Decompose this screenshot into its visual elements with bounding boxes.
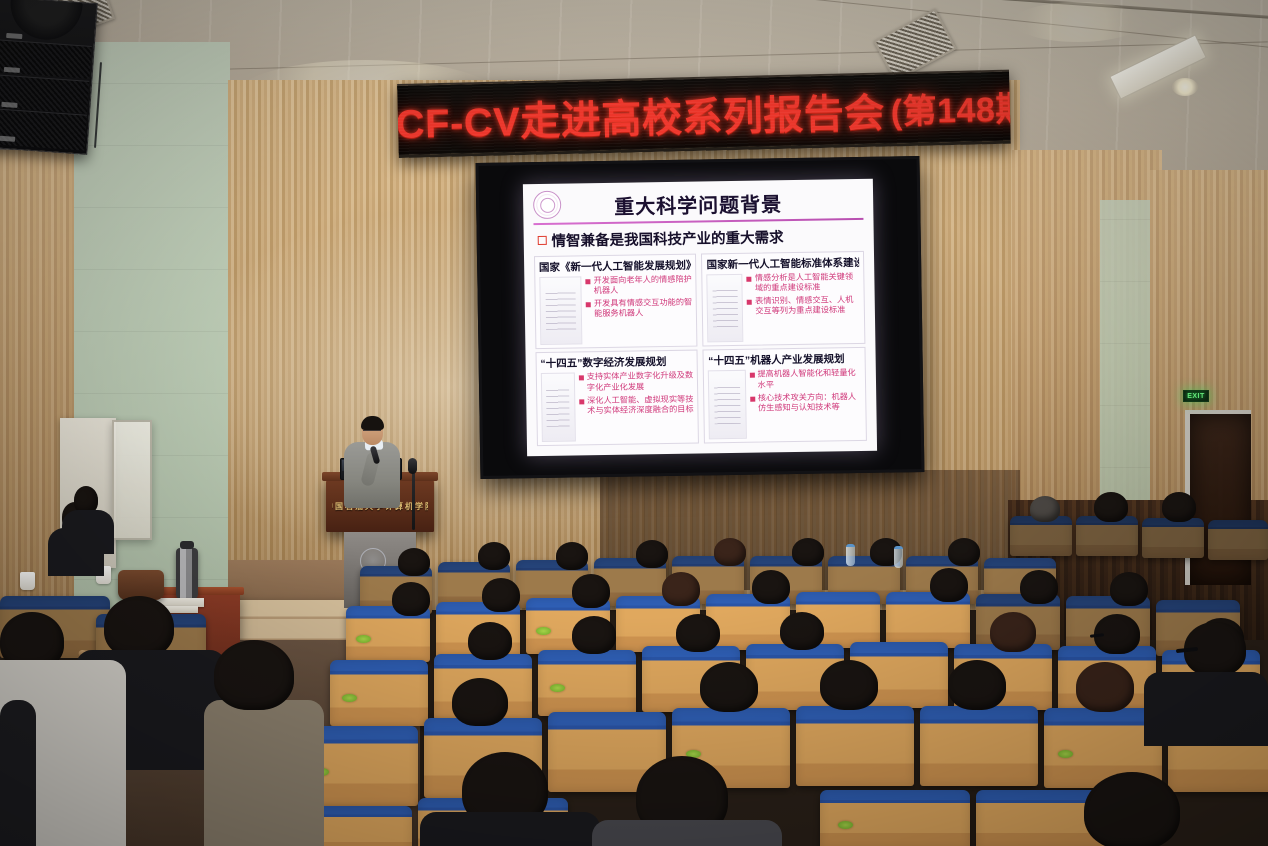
- seat-number-tag: [838, 821, 853, 829]
- presenter-hair: [361, 416, 384, 430]
- attendee-head: [214, 640, 294, 710]
- quadrant-bullets: 支持实体产业数字化升级及数字化产业化发展 深化人工智能、虚拟现实等技术与实体经济…: [579, 371, 695, 442]
- banner-suffix-text: (第148期): [890, 81, 1011, 134]
- presentation-slide: 重大科学问题背景 情智兼备是我国科技产业的重大需求 国家《新一代人工智能发展规划…: [523, 178, 878, 456]
- attendee-head: [636, 540, 668, 568]
- slide-header: 重大科学问题背景: [531, 184, 866, 221]
- auditorium-seat: [538, 650, 636, 716]
- seat-number-tag: [1058, 750, 1073, 758]
- exit-sign-label: EXIT: [1187, 393, 1205, 400]
- attendee-head: [478, 542, 510, 570]
- vacuum-flask: [176, 548, 198, 600]
- speaker-badge: [2, 101, 18, 107]
- attendee-shoulders: [62, 510, 114, 554]
- speaker-cell: [0, 39, 92, 79]
- water-bottle: [846, 544, 855, 566]
- attendee-head: [1094, 492, 1128, 522]
- quadrant-body: 开发面向老年人的情感陪护机器人 开发具有情感交互功能的智能服务机器人: [539, 274, 693, 345]
- document-thumbnail: [707, 273, 744, 342]
- document-thumbnail: [541, 373, 576, 442]
- seat-number-tag: [550, 684, 565, 692]
- attendee-head: [752, 570, 790, 604]
- seat-number-tag: [356, 635, 371, 643]
- bullet-dot-icon: [586, 302, 591, 307]
- quadrant-bullets: 开发面向老年人的情感陪护机器人 开发具有情感交互功能的智能服务机器人: [586, 274, 693, 345]
- quadrant-bullet-item: 支持实体产业数字化升级及数字化产业化发展: [579, 371, 694, 393]
- quadrant-bullet-item: 开发面向老年人的情感陪护机器人: [586, 274, 693, 296]
- attendee-head: [572, 574, 610, 608]
- wall-white-panel: [112, 420, 152, 540]
- speaker-cell: [0, 74, 89, 114]
- attendee-head: [468, 622, 512, 660]
- quadrant-body: 情感分析是人工智能关键领域的重点建设标准 表情识别、情感交互、人机交互等列为重点…: [707, 272, 861, 343]
- slide-quadrant: 国家《新一代人工智能发展规划》 开发面向老年人的情感陪护机器人 开发具有情感交互…: [534, 253, 698, 349]
- attendee-head: [662, 572, 700, 606]
- ceiling-light-glow: [1013, 2, 1143, 42]
- bullet-text: 开发具有情感交互功能的智能服务机器人: [594, 298, 693, 320]
- quadrant-bullet-item: 情感分析是人工智能关键领域的重点建设标准: [747, 272, 860, 294]
- quadrant-bullet-item: 核心技术攻关方向：机器人仿生感知与认知技术等: [750, 392, 862, 414]
- seat-number-tag: [342, 694, 357, 702]
- speaker-badge: [6, 32, 22, 38]
- quadrant-title: “十四五”机器人产业发展规划: [708, 351, 861, 368]
- quadrant-bullet-item: 深化人工智能、虚拟现实等技术与实体经济深度融合的目标: [579, 395, 694, 417]
- attendee-head: [572, 616, 616, 654]
- bullet-dot-icon: [586, 279, 591, 284]
- bullet-text: 情感分析是人工智能关键领域的重点建设标准: [755, 272, 860, 294]
- bullet-dot-icon: [579, 399, 584, 404]
- attendee-head: [1030, 496, 1060, 522]
- paper-cup: [20, 572, 35, 590]
- attendee-head: [948, 538, 980, 566]
- quadrant-title: 国家新一代人工智能标准体系建设指南: [707, 255, 860, 272]
- bullet-text: 提高机器人智能化和轻量化水平: [757, 368, 861, 390]
- attendee-head: [482, 578, 520, 612]
- quadrant-bullet-item: 开发具有情感交互功能的智能服务机器人: [586, 298, 693, 320]
- attendee-shoulders: [420, 812, 600, 846]
- attendee-head: [1084, 772, 1180, 846]
- square-bullet-icon: [537, 236, 546, 245]
- document-thumbnail: [708, 370, 746, 439]
- attendee-head: [1110, 572, 1148, 606]
- attendee-head: [792, 538, 824, 566]
- ceiling-downlight: [1172, 78, 1198, 96]
- projection-screen: 重大科学问题背景 情智兼备是我国科技产业的重大需求 国家《新一代人工智能发展规划…: [476, 156, 925, 479]
- slide-quadrant: “十四五”机器人产业发展规划 提高机器人智能化和轻量化水平 核心技术攻关方向：机…: [703, 347, 867, 443]
- bullet-text: 表情识别、情感交互、人机交互等列为重点建设标准: [755, 295, 860, 317]
- attendee-head: [104, 596, 174, 658]
- slide-quadrant: “十四五”数字经济发展规划 支持实体产业数字化升级及数字化产业化发展 深化人工智…: [535, 350, 699, 446]
- attendee-head: [948, 660, 1006, 710]
- quadrant-bullets: 情感分析是人工智能关键领域的重点建设标准 表情识别、情感交互、人机交互等列为重点…: [747, 272, 861, 343]
- auditorium-seat: [1208, 520, 1268, 560]
- attendee-sleeve-stripe: [0, 700, 36, 846]
- presenter-glasses: [363, 430, 381, 434]
- bullet-text: 开发面向老年人的情感陪护机器人: [594, 274, 693, 296]
- auditorium-seat: [1010, 516, 1072, 556]
- quadrant-title: “十四五”数字经济发展规划: [540, 354, 693, 371]
- bullet-text: 深化人工智能、虚拟现实等技术与实体经济深度融合的目标: [587, 395, 694, 417]
- led-banner-board: CCF-CV走进高校系列报告会 (第148期): [397, 70, 1011, 158]
- bullet-dot-icon: [749, 373, 754, 378]
- speaker-cell: [0, 108, 87, 151]
- auditorium-seat: [920, 706, 1038, 786]
- attendee-shoulders: [204, 700, 324, 846]
- speaker-badge: [4, 67, 20, 73]
- auditorium-seat: [330, 660, 428, 726]
- water-bottle: [894, 546, 903, 568]
- attendee-head: [556, 542, 588, 570]
- bullet-dot-icon: [747, 300, 752, 305]
- attendee-head: [714, 538, 746, 566]
- attendee-head: [820, 660, 878, 710]
- quadrant-bullet-item: 提高机器人智能化和轻量化水平: [749, 368, 861, 390]
- auditorium-seat: [820, 790, 970, 846]
- lecture-hall-photo: CCF-CV走进高校系列报告会 (第148期) 重大科学问题背景 情智兼备是我国…: [0, 0, 1268, 846]
- quadrant-title: 国家《新一代人工智能发展规划》: [539, 257, 692, 274]
- bullet-text: 核心技术攻关方向：机器人仿生感知与认知技术等: [758, 392, 862, 414]
- quadrant-bullets: 提高机器人智能化和轻量化水平 核心技术攻关方向：机器人仿生感知与认知技术等: [749, 368, 862, 439]
- attendee-head: [1020, 570, 1058, 604]
- auditorium-seat: [796, 706, 914, 786]
- auditorium-seat: [1076, 516, 1138, 556]
- exit-sign: EXIT: [1183, 390, 1209, 402]
- attendee-head: [1162, 492, 1196, 522]
- speaker-badge: [0, 136, 15, 142]
- bullet-dot-icon: [747, 276, 752, 281]
- bullet-dot-icon: [579, 376, 584, 381]
- attendee-head: [700, 662, 758, 712]
- presenter-person: [340, 412, 420, 492]
- attendee-head: [1076, 662, 1134, 712]
- attendee-shoulders: [592, 820, 782, 846]
- attendee-head: [990, 612, 1036, 652]
- auditorium-seat: [1142, 518, 1204, 558]
- bullet-dot-icon: [750, 397, 755, 402]
- attendee-head: [452, 678, 508, 726]
- slide-title: 重大科学问题背景: [531, 186, 866, 220]
- document-thumbnail: [539, 276, 582, 346]
- quadrant-body: 提高机器人智能化和轻量化水平 核心技术攻关方向：机器人仿生感知与认知技术等: [708, 368, 862, 439]
- banner-main-text: CCF-CV走进高校系列报告会: [397, 80, 885, 150]
- seat-number-tag: [536, 627, 551, 635]
- attendee-shoulders: [1144, 672, 1268, 746]
- attendee-head: [398, 548, 430, 576]
- attendee-head: [392, 582, 430, 616]
- quadrant-body: 支持实体产业数字化升级及数字化产业化发展 深化人工智能、虚拟现实等技术与实体经济…: [541, 371, 695, 442]
- quadrant-bullet-item: 表情识别、情感交互、人机交互等列为重点建设标准: [747, 295, 860, 317]
- bullet-text: 支持实体产业数字化升级及数字化产业化发展: [587, 371, 694, 393]
- attendee-head: [780, 612, 824, 650]
- slide-headline: 情智兼备是我国科技产业的重大需求: [551, 226, 783, 251]
- line-array-loudspeaker: [0, 0, 98, 155]
- slide-quadrant-grid: 国家《新一代人工智能发展规划》 开发面向老年人的情感陪护机器人 开发具有情感交互…: [532, 249, 869, 448]
- attendee-head: [930, 568, 968, 602]
- slide-quadrant: 国家新一代人工智能标准体系建设指南 情感分析是人工智能关键领域的重点建设标准 表…: [701, 251, 865, 347]
- attendee-head: [676, 614, 720, 652]
